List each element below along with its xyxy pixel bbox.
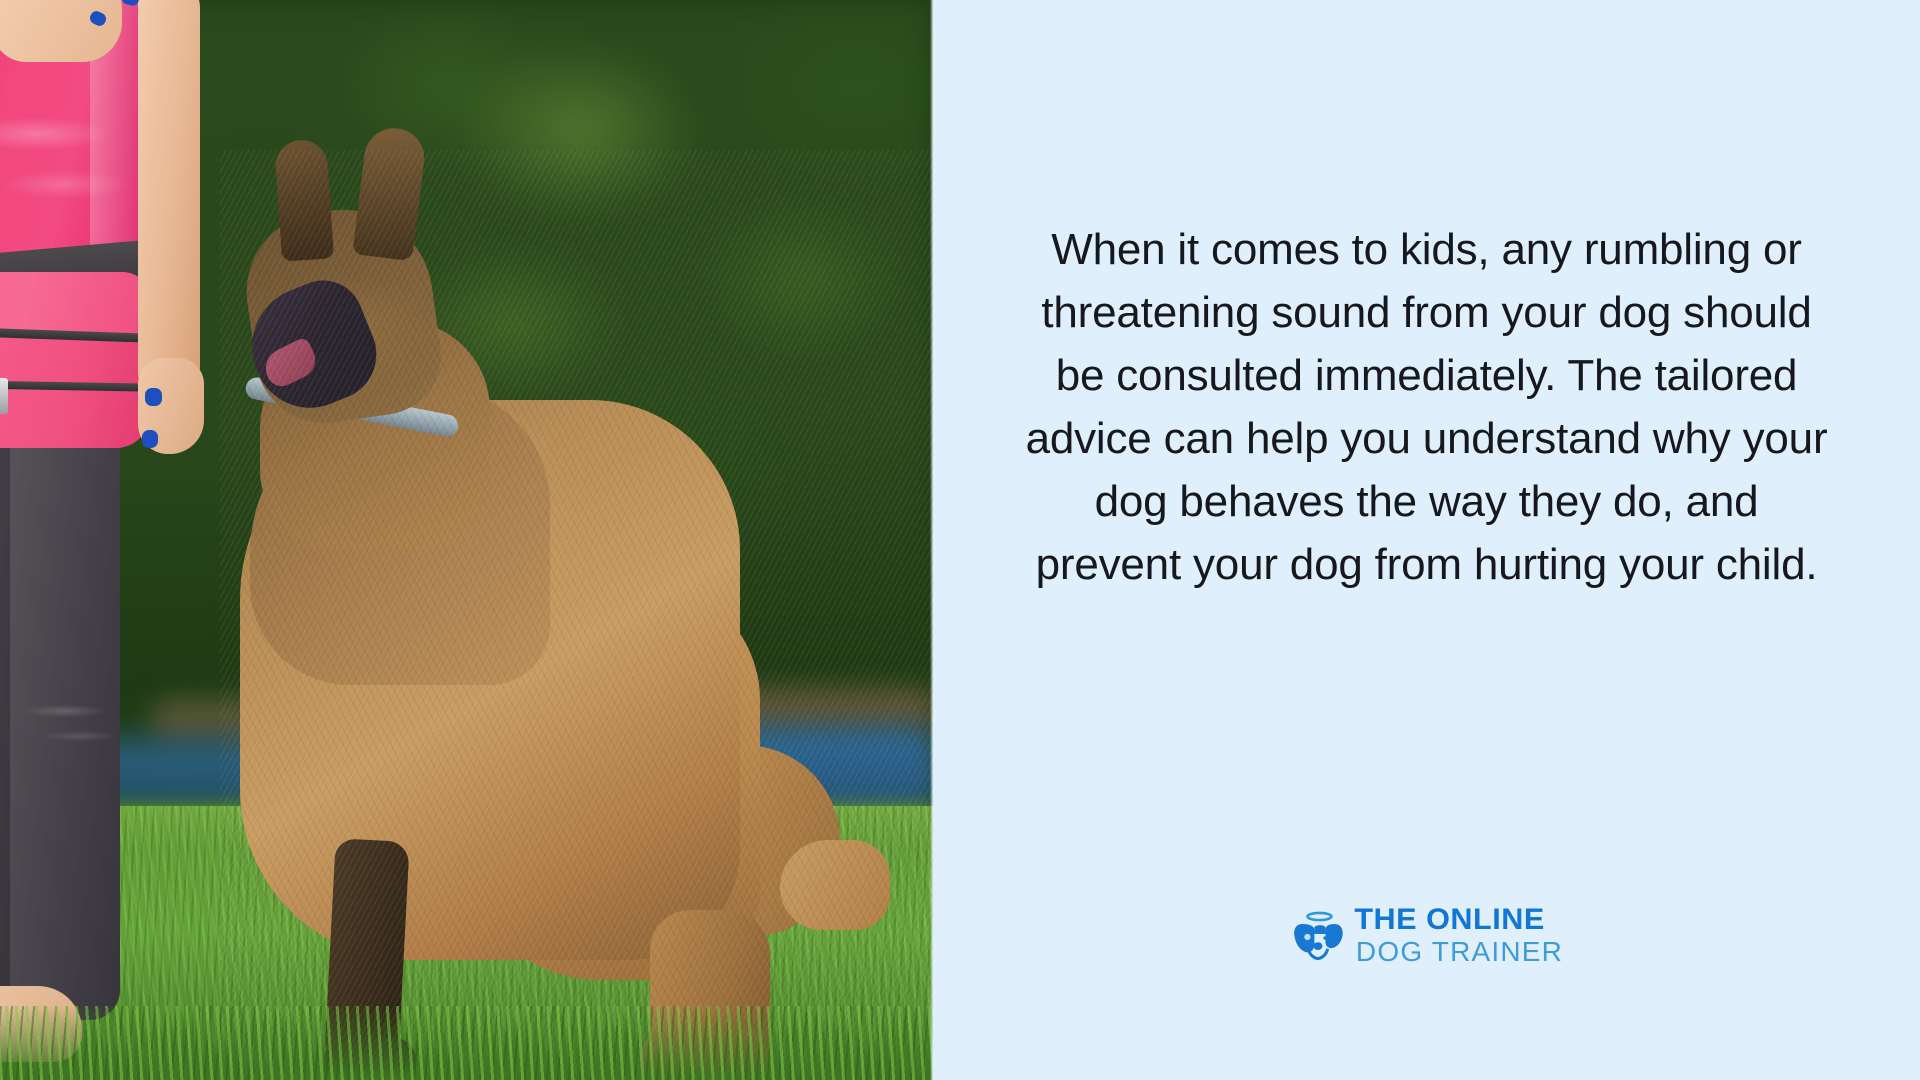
- dog-muzzle: [234, 268, 390, 424]
- tank-top-folds: [0, 110, 150, 230]
- training-photo: [0, 0, 933, 1080]
- brand-logo-wordmark: THE ONLINE DOG TRAINER: [1356, 905, 1563, 966]
- blue-nail-4: [142, 430, 158, 448]
- brand-logo-line2: DOG TRAINER: [1356, 938, 1563, 966]
- pink-treat-pouch-lower: [0, 338, 150, 448]
- zipper-pull-lower-icon: [0, 378, 8, 414]
- woman-arm: [138, 0, 200, 400]
- brand-logo[interactable]: THE ONLINE DOG TRAINER: [1290, 905, 1563, 966]
- grass-foreground-blades: [0, 1006, 933, 1080]
- legging-fold: [25, 690, 125, 760]
- blue-nail-3: [145, 388, 162, 406]
- quote-text: When it comes to kids, any rumbling or t…: [1022, 218, 1832, 596]
- woman-trainer: [0, 0, 220, 1080]
- dog-face-with-halo-icon: [1290, 910, 1346, 962]
- quote-panel: When it comes to kids, any rumbling or t…: [933, 0, 1920, 1080]
- brand-logo-line1: THE ONLINE: [1354, 905, 1565, 935]
- belgian-malinois-dog: [220, 150, 933, 1080]
- infographic-canvas: When it comes to kids, any rumbling or t…: [0, 0, 1920, 1080]
- dog-tail-tip: [780, 840, 890, 930]
- dog-ear-left: [274, 138, 334, 261]
- woman-hand-upper: [0, 0, 122, 62]
